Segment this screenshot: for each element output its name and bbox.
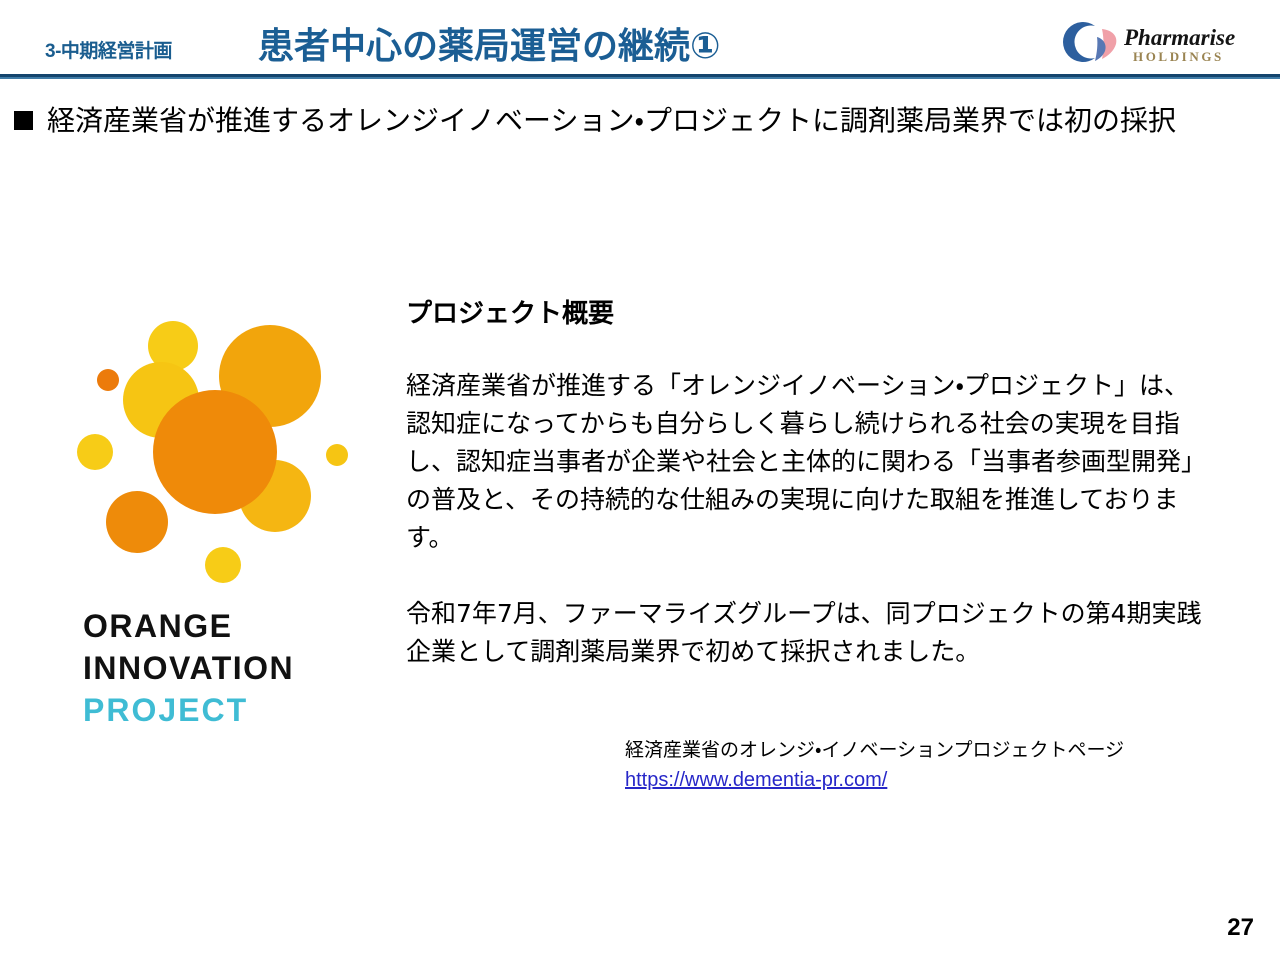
oip-wordmark: ORANGE INNOVATION PROJECT: [83, 605, 383, 731]
source-url-link[interactable]: https://www.dementia-pr.com/: [625, 766, 887, 794]
svg-text:Pharmarise: Pharmarise: [1123, 25, 1235, 50]
slide-header: 3-中期経営計画 患者中心の薬局運営の継続① Pharmarise HOLDIN…: [0, 0, 1280, 80]
source-note: 経済産業省のオレンジ・イノベーションプロジェクトページ https://www.…: [625, 736, 1245, 794]
pharmarise-holdings-logo: Pharmarise HOLDINGS: [1058, 16, 1238, 68]
square-bullet-icon: [14, 111, 33, 130]
oip-word-project: PROJECT: [83, 689, 383, 731]
oip-word-innovation: INNOVATION: [83, 647, 383, 689]
overview-heading: プロジェクト概要: [406, 297, 1206, 331]
bullet-headline-text: 経済産業省が推進するオレンジイノベーション・プロジェクトに調剤薬局業界では初の採…: [14, 99, 1244, 143]
orange-innovation-project-logo: ORANGE INNOVATION PROJECT: [55, 300, 385, 730]
header-section-label: 3-中期経営計画: [45, 36, 172, 63]
header-divider-rule-soft: [0, 77, 1280, 79]
overview-paragraph-2: 令和7年7月、ファーマライズグループは、同プロジェクトの第4期実践企業として調剤…: [406, 595, 1206, 671]
project-overview-column: プロジェクト概要 経済産業省が推進する「オレンジイノベーション・プロジェクト」は…: [406, 297, 1206, 671]
page-number: 27: [1227, 914, 1254, 942]
page-title: 患者中心の薬局運営の継続①: [258, 17, 720, 69]
oip-word-orange: ORANGE: [83, 605, 383, 647]
overview-paragraph-1: 経済産業省が推進する「オレンジイノベーション・プロジェクト」は、認知症になってか…: [406, 367, 1206, 557]
svg-text:HOLDINGS: HOLDINGS: [1133, 49, 1224, 64]
source-caption: 経済産業省のオレンジ・イノベーションプロジェクトページ: [625, 736, 1245, 764]
bullet-headline-block: 経済産業省が推進するオレンジイノベーション・プロジェクトに調剤薬局業界では初の採…: [14, 99, 1244, 143]
orange-bubbles-graphic: [55, 300, 385, 600]
